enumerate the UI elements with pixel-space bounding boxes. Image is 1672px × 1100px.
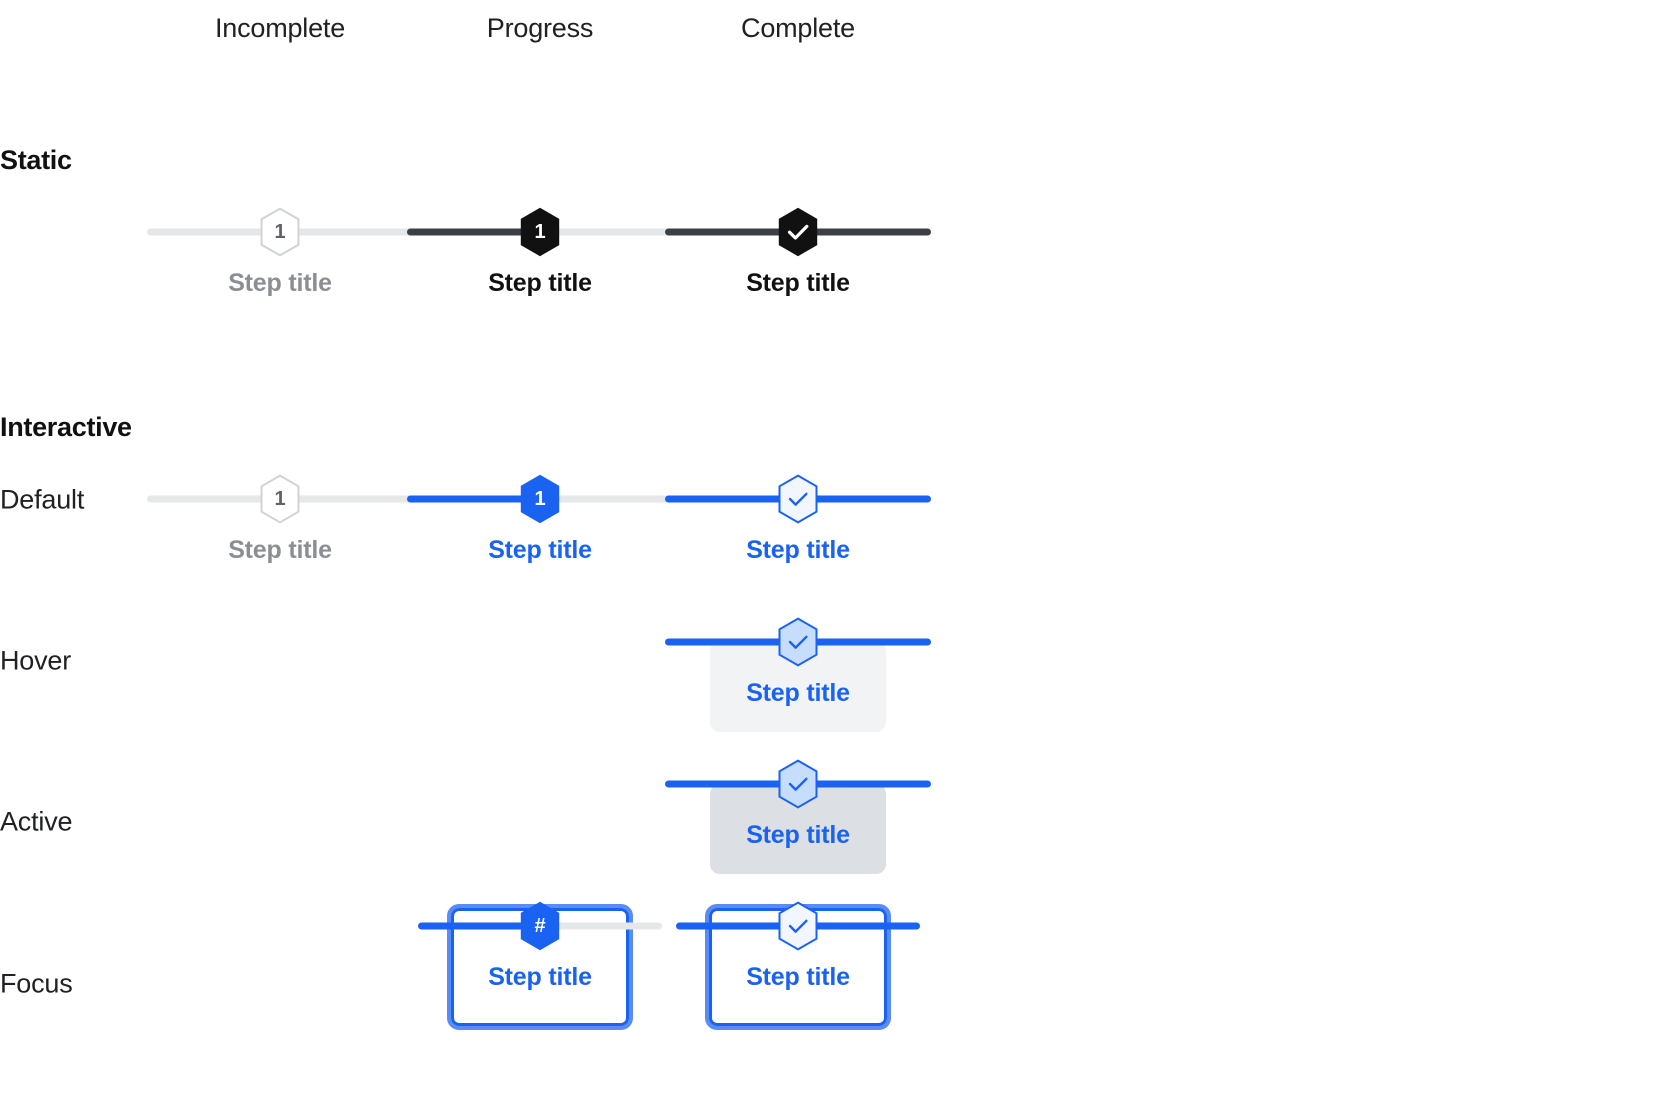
step-rail [710, 757, 886, 811]
section-label-static: Static [0, 145, 72, 176]
step-hover-complete[interactable]: Step title [710, 615, 886, 708]
step-rail: 1 [452, 205, 628, 259]
step-focus-complete[interactable]: Step title [710, 899, 886, 992]
hexagon-marker-icon[interactable]: # [518, 901, 562, 951]
step-caption: Step title [710, 269, 886, 298]
row-label-hover: Hover [0, 646, 71, 677]
step-rail: 1 [192, 205, 368, 259]
step-rail [710, 899, 886, 953]
step-default-progress[interactable]: 1 Step title [452, 472, 628, 565]
step-caption[interactable]: Step title [452, 536, 628, 565]
step-caption[interactable]: Step title [710, 536, 886, 565]
step-rail: # [452, 899, 628, 953]
column-header-progress: Progress [487, 13, 593, 44]
step-caption: Step title [192, 269, 368, 298]
column-header-incomplete: Incomplete [215, 13, 345, 44]
step-caption[interactable]: Step title [710, 963, 886, 992]
step-static-incomplete: 1 Step title [192, 205, 368, 298]
step-rail [710, 615, 886, 669]
step-rail [710, 472, 886, 526]
section-label-interactive: Interactive [0, 412, 132, 443]
step-caption[interactable]: Step title [452, 963, 628, 992]
stepper-states-sheet: Incomplete Progress Complete Static Inte… [0, 0, 1672, 1100]
step-focus-progress[interactable]: # Step title [452, 899, 628, 992]
hexagon-marker-icon[interactable] [776, 901, 820, 951]
step-caption[interactable]: Step title [710, 679, 886, 708]
step-default-complete[interactable]: Step title [710, 472, 886, 565]
hexagon-marker-icon [776, 207, 820, 257]
step-static-progress: 1 Step title [452, 205, 628, 298]
step-active-complete[interactable]: Step title [710, 757, 886, 850]
step-static-complete: Step title [710, 205, 886, 298]
hexagon-marker-icon[interactable]: 1 [258, 474, 302, 524]
step-default-incomplete[interactable]: 1 Step title [192, 472, 368, 565]
step-caption[interactable]: Step title [710, 821, 886, 850]
hexagon-marker-icon: 1 [258, 207, 302, 257]
hexagon-marker-icon[interactable] [776, 474, 820, 524]
hexagon-marker-icon[interactable]: 1 [518, 474, 562, 524]
row-label-focus: Focus [0, 969, 73, 1000]
hexagon-marker-icon[interactable] [776, 617, 820, 667]
step-rail: 1 [452, 472, 628, 526]
step-caption[interactable]: Step title [192, 536, 368, 565]
step-rail: 1 [192, 472, 368, 526]
row-label-default: Default [0, 485, 84, 516]
hexagon-marker-icon[interactable] [776, 759, 820, 809]
row-label-active: Active [0, 807, 72, 838]
hexagon-marker-icon: 1 [518, 207, 562, 257]
step-rail [710, 205, 886, 259]
column-header-complete: Complete [741, 13, 855, 44]
step-caption: Step title [452, 269, 628, 298]
